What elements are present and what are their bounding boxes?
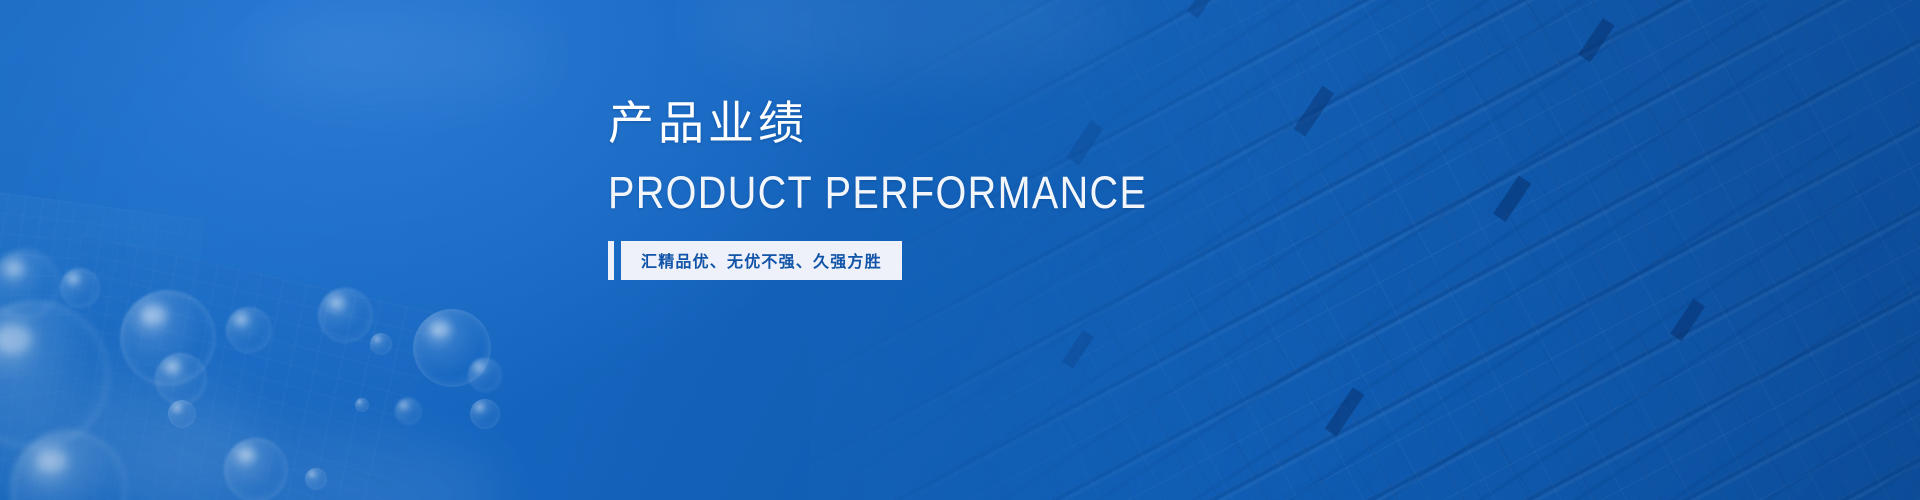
tagline-text: 汇精品优、无优不强、久强方胜 xyxy=(641,248,882,272)
page-title-chinese: 产品业绩 xyxy=(608,98,1308,150)
tagline-panel: 汇精品优、无优不强、久强方胜 xyxy=(621,241,902,280)
tagline-spacer xyxy=(614,241,621,280)
banner-content: 产品业绩 PRODUCT PERFORMANCE 汇精品优、无优不强、久强方胜 xyxy=(608,98,1308,280)
tagline-block: 汇精品优、无优不强、久强方胜 xyxy=(608,241,1308,280)
product-performance-hero-banner: 产品业绩 PRODUCT PERFORMANCE 汇精品优、无优不强、久强方胜 xyxy=(0,0,1920,500)
page-title-english: PRODUCT PERFORMANCE xyxy=(608,170,1224,215)
